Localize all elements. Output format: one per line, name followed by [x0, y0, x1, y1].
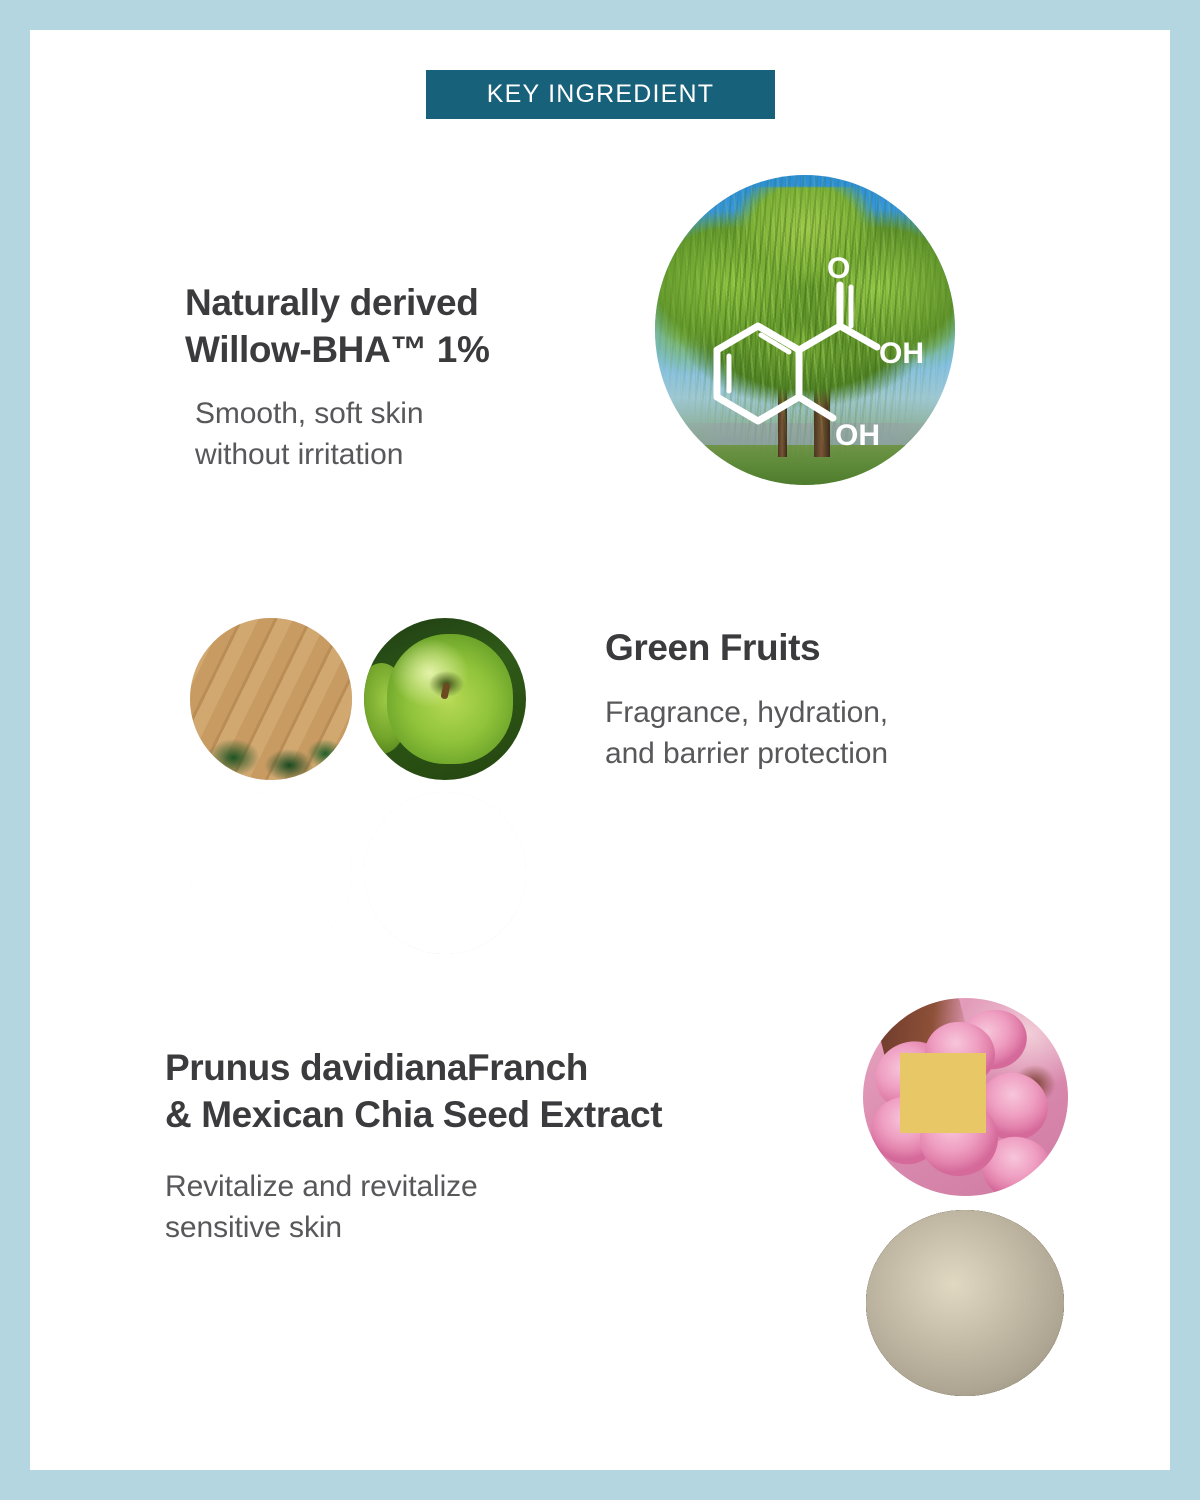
- chem-label-oh-phenol: OH: [835, 419, 880, 452]
- chia-seeds-photo: [866, 1210, 1064, 1396]
- green-papaya-photo: [364, 792, 526, 954]
- blossom-stamens: [900, 1053, 986, 1132]
- section-willow-body: Smooth, soft skin without irritation: [195, 393, 595, 476]
- apple-body: [387, 634, 513, 764]
- green-grapes-photo: [190, 618, 352, 780]
- infographic-page: KEY INGREDIENT Naturally derived Willow-…: [30, 30, 1170, 1470]
- key-ingredient-banner: KEY INGREDIENT: [426, 70, 775, 119]
- chia-vignette: [866, 1210, 1064, 1396]
- green-plum-photo: [190, 792, 352, 954]
- peach-blossom-photo: [863, 998, 1068, 1196]
- section-fruits-body: Fragrance, hydration, and barrier protec…: [605, 692, 1045, 775]
- section-willow-heading: Naturally derived Willow-BHA™ 1%: [185, 280, 605, 374]
- grape-bunch: [200, 646, 333, 746]
- section-prunus-body: Revitalize and revitalize sensitive skin: [165, 1166, 635, 1249]
- chem-label-oh-carboxyl: OH: [879, 337, 924, 370]
- dew-droplets: [190, 792, 352, 954]
- salicylic-acid-structure-icon: O OH OH: [655, 175, 955, 485]
- willow-tree-photo: O OH OH: [655, 175, 955, 485]
- green-apple-photo: [364, 618, 526, 780]
- chem-label-o: O: [827, 252, 850, 285]
- section-fruits-heading: Green Fruits: [605, 625, 1035, 672]
- section-prunus-heading: Prunus davidianaFranch & Mexican Chia Se…: [165, 1045, 855, 1139]
- banner-label: KEY INGREDIENT: [487, 80, 715, 109]
- dew-droplets: [364, 792, 526, 954]
